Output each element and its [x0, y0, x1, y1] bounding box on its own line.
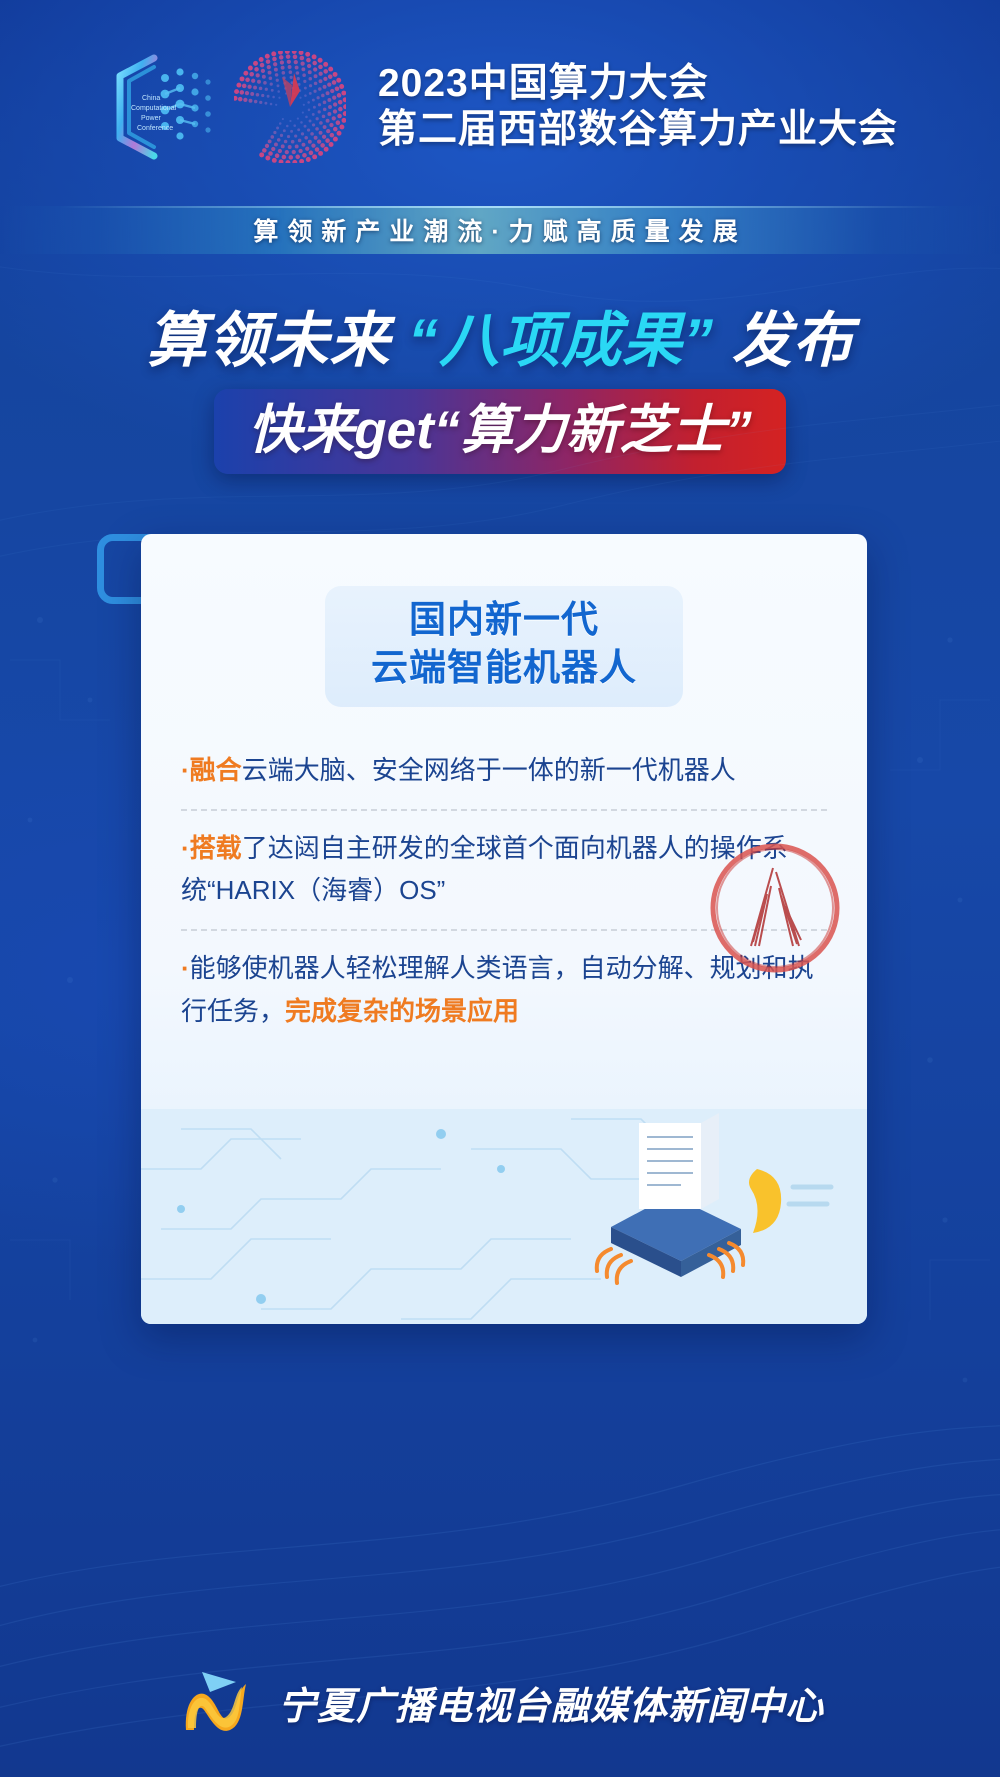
bullet-item-1: ·融合云端大脑、安全网络于一体的新一代机器人	[181, 733, 827, 809]
headline-line-2: 快来get“算力新芝士”	[248, 401, 752, 460]
bullet-3-tail-highlight: 完成复杂的场景应用	[285, 996, 519, 1026]
conference-title: 2023中国算力大会 第二届西部数谷算力产业大会	[378, 63, 898, 151]
bullet-2-text: 了达闼自主研发的全球首个面向机器人的操作系统“HARIX（海睿）OS”	[181, 833, 788, 905]
slogan-bar: 算领新产业潮流·力赋高质量发展	[0, 206, 1000, 264]
conference-title-line2: 第二届西部数谷算力产业大会	[378, 109, 898, 151]
svg-text:Power: Power	[141, 115, 162, 122]
headline-highlight: “八项成果”	[408, 307, 714, 374]
headline-line-1: 算领未来 “八项成果” 发布	[0, 306, 1000, 375]
bullet-marker: ·	[181, 953, 190, 983]
svg-text:Conference: Conference	[137, 125, 173, 132]
bullet-1-text: 云端大脑、安全网络于一体的新一代机器人	[242, 755, 736, 785]
ningxia-n-logo-icon	[176, 1666, 262, 1738]
poster-header: China Computational Power Conference	[0, 0, 1000, 202]
headline-part-2: 发布	[714, 307, 854, 374]
svg-text:Computational: Computational	[131, 105, 177, 112]
svg-text:China: China	[142, 95, 160, 102]
card-title-pill: 国内新一代 云端智能机器人	[325, 586, 683, 707]
content-card: 国内新一代 云端智能机器人 ·融合云端大脑、安全网络于一体的新一代机器人 ·搭载…	[141, 534, 867, 1324]
china-computational-power-conference-logo: China Computational Power Conference	[102, 48, 222, 166]
slogan-text: 算领新产业潮流·力赋高质量发展	[0, 212, 1000, 248]
card-title-line1: 国内新一代	[371, 596, 637, 643]
bullet-marker: ·	[181, 833, 190, 863]
headline-part-1: 算领未来	[146, 307, 408, 374]
footer-brand: 宁夏广播电视台融媒体新闻中心	[278, 1675, 824, 1730]
bullet-item-3: ·能够使机器人轻松理解人类语言，自动分解、规划和执行任务，完成复杂的场景应用	[181, 931, 827, 1049]
bullet-item-2: ·搭载了达闼自主研发的全球首个面向机器人的操作系统“HARIX（海睿）OS”	[181, 811, 827, 929]
bullet-marker: ·	[181, 755, 190, 785]
card-title-line2: 云端智能机器人	[371, 644, 637, 691]
poster-root: China Computational Power Conference	[0, 0, 1000, 1777]
headline-block: 算领未来 “八项成果” 发布 快来get“算力新芝士”	[0, 306, 1000, 474]
headline-banner: 快来get“算力新芝士”	[214, 389, 786, 474]
bullet-list: ·融合云端大脑、安全网络于一体的新一代机器人 ·搭载了达闼自主研发的全球首个面向…	[181, 733, 827, 1050]
bullet-2-highlight: 搭载	[190, 833, 242, 863]
footer-bar: 宁夏广播电视台融媒体新闻中心	[0, 1627, 1000, 1777]
isometric-illustration	[141, 1109, 867, 1324]
radial-fan-logo	[234, 51, 346, 163]
content-card-zone: 国内新一代 云端智能机器人 ·融合云端大脑、安全网络于一体的新一代机器人 ·搭载…	[105, 534, 895, 1324]
conference-title-line1: 2023中国算力大会	[378, 63, 898, 105]
bullet-1-highlight: 融合	[190, 755, 242, 785]
